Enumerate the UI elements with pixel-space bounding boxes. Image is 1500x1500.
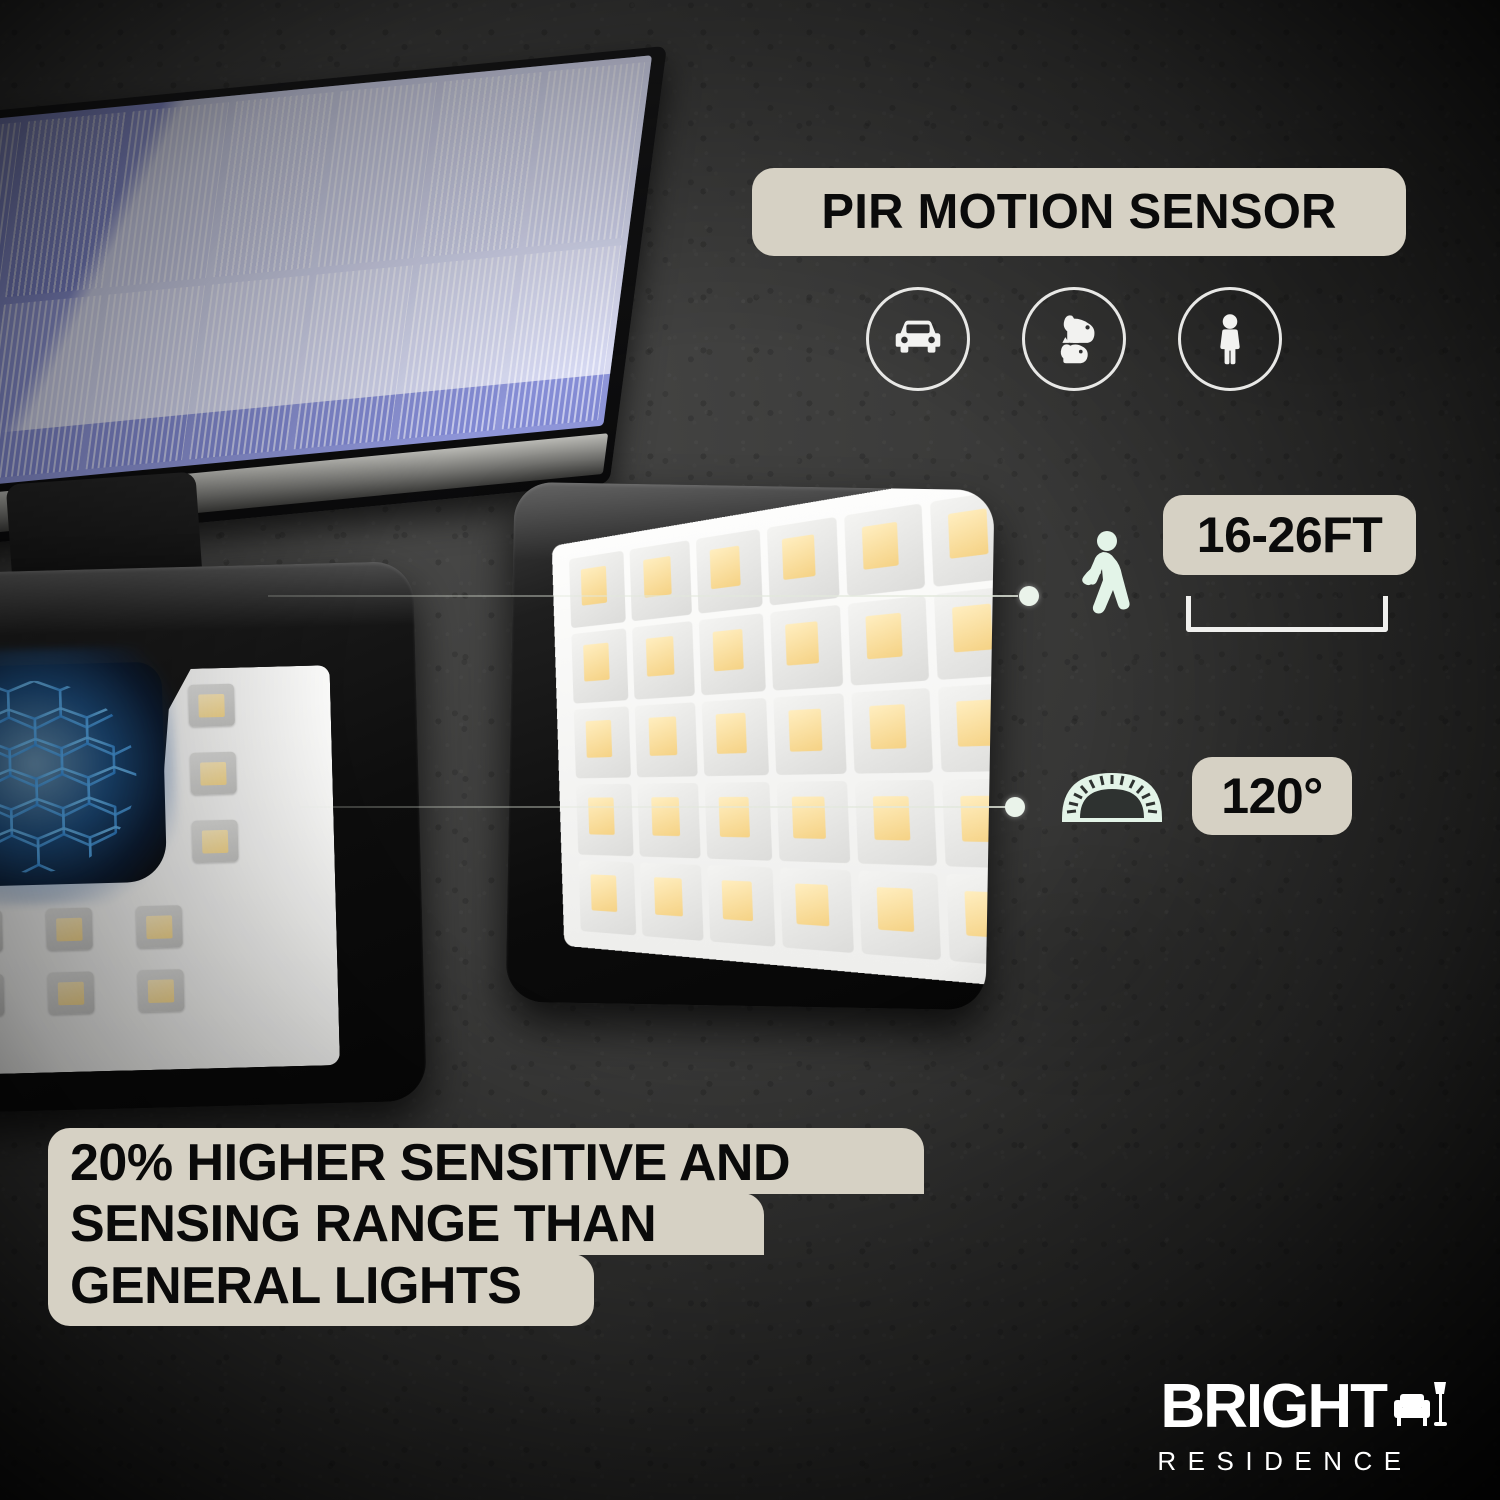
infographic-canvas: PIR MOTION SENSOR: [0, 0, 1500, 1500]
distance-bracket-icon: [1186, 596, 1388, 632]
headline-line-2: SENSING RANGE THAN: [48, 1193, 764, 1255]
callout-dot-angle: [1005, 797, 1025, 817]
logo-subtitle: RESIDENCE: [1112, 1446, 1448, 1477]
walking-person-icon: [1072, 528, 1138, 632]
callout-line-angle: [300, 806, 1015, 808]
logo-top-row: BRIGHT: [1112, 1378, 1448, 1436]
brand-logo: BRIGHT RESIDENCE: [1112, 1378, 1448, 1477]
protractor-icon: [1058, 765, 1166, 827]
car-glyph: [887, 308, 949, 370]
headline-line-1: 20% HIGHER SENSITIVE AND: [48, 1128, 924, 1194]
dog-cat-glyph: [1043, 308, 1105, 370]
sofa-lamp-icon: [1392, 1378, 1448, 1436]
headline-line-3: GENERAL LIGHTS: [48, 1254, 594, 1326]
car-icon: [866, 287, 970, 391]
callout-line-distance: [268, 595, 1018, 597]
pets-icon: [1022, 287, 1126, 391]
distance-badge: 16-26FT: [1163, 495, 1416, 575]
headline-block: 20% HIGHER SENSITIVE AND SENSING RANGE T…: [48, 1128, 948, 1326]
logo-wordmark: BRIGHT: [1160, 1378, 1386, 1435]
angle-badge: 120°: [1192, 757, 1352, 835]
page-title: PIR MOTION SENSOR: [752, 168, 1406, 256]
callout-dot-distance: [1019, 586, 1039, 606]
person-glyph: [1199, 308, 1261, 370]
person-icon: [1178, 287, 1282, 391]
